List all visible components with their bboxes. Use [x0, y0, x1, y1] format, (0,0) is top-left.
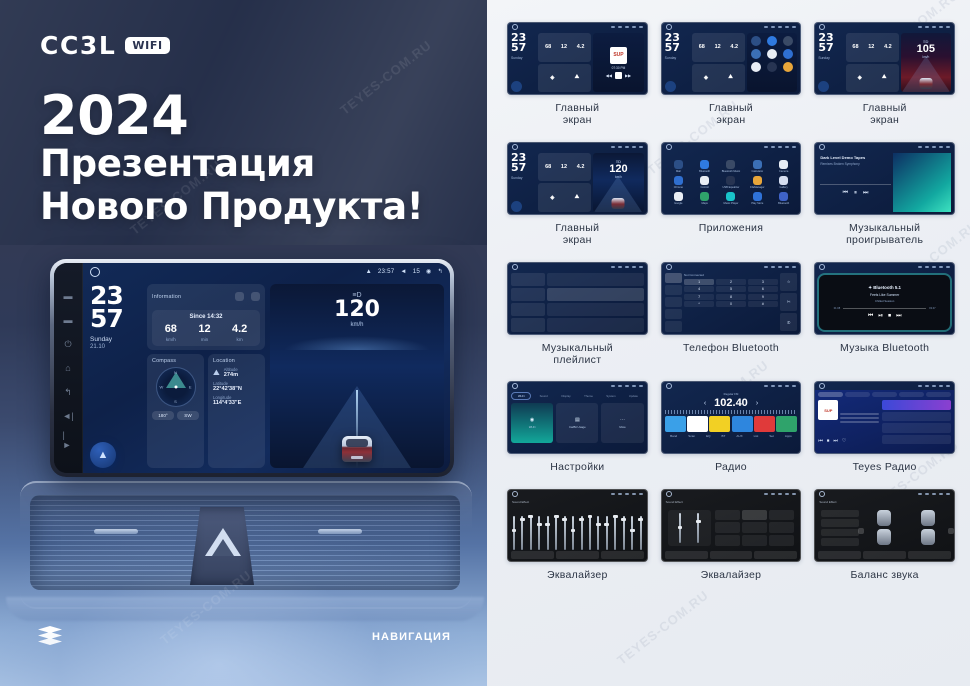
navigation-arrow-icon[interactable] [511, 201, 522, 212]
seat-map[interactable] [864, 510, 948, 546]
dialpad-key[interactable]: 4 [684, 286, 714, 292]
sidebar-icon[interactable] [665, 321, 682, 331]
dialpad-key[interactable]: 0 [716, 301, 746, 307]
footer-tab[interactable] [754, 551, 797, 559]
eq-knob[interactable] [537, 523, 542, 526]
track-row[interactable] [547, 273, 643, 286]
radio-frequency: 102.40 [714, 397, 748, 409]
eq-knob[interactable] [613, 515, 618, 518]
action-icon[interactable]: ☆ [780, 273, 797, 291]
toolbar-button[interactable]: Scan [688, 434, 695, 438]
preset-row[interactable] [821, 529, 859, 537]
genre-tab[interactable] [818, 392, 843, 397]
compass-location-card[interactable]: ◈ ⛰ [846, 64, 899, 93]
screen-thumbnail[interactable]: Mail Bluetooth Bluetooth Music Calculato… [661, 142, 802, 215]
balance-presets[interactable] [821, 510, 859, 546]
eq-band[interactable] [589, 516, 591, 550]
sidebar-icon[interactable] [665, 285, 682, 295]
settings-tab[interactable]: Sound [533, 392, 553, 400]
sidebar-icon[interactable] [665, 297, 682, 307]
settings-tile[interactable]: ▤ CarBit Usage [556, 403, 598, 443]
eq-knob[interactable] [545, 523, 550, 526]
app-icon[interactable] [783, 62, 793, 72]
status-bar [662, 263, 801, 271]
audio-footer-tabs[interactable] [818, 551, 951, 559]
station-preset[interactable] [687, 416, 708, 432]
home-icon[interactable] [666, 264, 672, 270]
settings-tab[interactable]: Wi-Fi [511, 392, 531, 400]
previous-icon[interactable]: ◀◀ [606, 73, 612, 78]
footer-tab[interactable] [511, 551, 554, 559]
grid-cell[interactable]: 23 57 Sunday 68124.2 ◈ ⛰ Главныйэкран [661, 22, 802, 136]
toolbar-button[interactable]: EQ [706, 434, 710, 438]
compass-location-card[interactable]: ◈ ⛰ [538, 183, 591, 212]
progress-bar[interactable] [843, 308, 926, 309]
eq-band[interactable] [530, 516, 532, 550]
toolbar-button[interactable]: Apps [785, 434, 792, 438]
next-icon[interactable]: ⏭ [896, 313, 901, 320]
clock-icon [771, 493, 775, 495]
seat-icon[interactable] [877, 529, 891, 545]
media-controls[interactable]: ⏮ ⏹ ⏭ ♡ [818, 438, 879, 444]
eq-knob[interactable] [588, 515, 593, 518]
app-icon[interactable] [751, 62, 761, 72]
footer-tab[interactable] [908, 551, 951, 559]
toolbar-button[interactable]: AUX [736, 434, 742, 438]
eq-band[interactable] [597, 516, 599, 550]
grid-cell[interactable]: Sound Effect [507, 489, 648, 590]
app-tile[interactable]: Camera [772, 160, 795, 173]
settings-tab[interactable]: System [601, 392, 621, 400]
eq-knob[interactable] [571, 529, 576, 532]
visualizer [893, 153, 951, 212]
eq-knob[interactable] [604, 523, 609, 526]
screen-thumbnail[interactable] [507, 262, 648, 335]
eq-band[interactable] [679, 513, 681, 543]
information-card[interactable]: 68124.2 [692, 33, 745, 62]
grid-cell[interactable]: 23 57 Sunday 68124.2 ◈ ⛰ ≡D 105 km/h Гла… [814, 22, 955, 136]
eq-knob[interactable] [638, 518, 643, 521]
clock-date: 21.10 [90, 344, 142, 350]
dialpad-key[interactable]: 1 [684, 279, 714, 285]
screen-thumbnail[interactable]: Wi-FiSoundDisplayThemeSystemUpdate ◉ Wi-… [507, 381, 648, 454]
screen-thumbnail[interactable]: 23 57 Sunday 68124.2 ◈ ⛰ ≡D 120 km/h [507, 142, 648, 215]
screen-thumbnail[interactable]: Dark Level Demo Tapes Remixes Broken Sym… [814, 142, 955, 215]
dialpad-key[interactable]: 6 [748, 286, 778, 292]
chevron-left-icon[interactable]: ‹ [704, 400, 706, 407]
footer-tab[interactable] [601, 551, 644, 559]
eq-band[interactable] [572, 516, 574, 550]
preset-button[interactable] [742, 535, 767, 546]
genre-tab[interactable] [845, 392, 870, 397]
station-preset[interactable] [754, 416, 775, 432]
balance-right-button[interactable] [948, 528, 954, 534]
preset-button[interactable] [715, 535, 740, 546]
action-icon[interactable]: ✆ [780, 313, 797, 331]
media-controls[interactable]: ⏮ ⏸ ⏭ [820, 190, 890, 197]
previous-icon[interactable]: ⏮ [818, 438, 823, 444]
volume-icon [778, 26, 782, 28]
preset-button[interactable] [715, 510, 740, 521]
app-tile[interactable]: Calculator [746, 160, 769, 173]
eq-band[interactable] [614, 516, 616, 550]
grid-cell[interactable]: ✦ Bluetooth 5.1 Feels Like Summer Chille… [814, 262, 955, 376]
eq-band[interactable] [555, 516, 557, 550]
drive-view-card[interactable]: ≡D 105 km/h [901, 33, 951, 92]
equalizer-simple[interactable] [662, 506, 801, 550]
stop-icon[interactable]: ⏹ [888, 313, 891, 320]
headline-line-1: Презентация [40, 143, 460, 186]
previous-icon[interactable]: ⏮ [868, 313, 873, 320]
home-icon[interactable]: ⌂ [63, 363, 74, 374]
navigation-arrow-icon[interactable] [665, 81, 676, 92]
refresh-icon[interactable] [251, 292, 260, 301]
app-shortcuts[interactable] [747, 33, 797, 92]
key-minus-icon[interactable]: ▬ [63, 291, 74, 302]
app-tile[interactable]: Bluetooth [772, 192, 795, 205]
app-tile[interactable]: Control [693, 176, 716, 189]
track-row[interactable] [547, 288, 643, 301]
frequency-row[interactable]: ‹ 102.40 › [665, 397, 798, 409]
dialpad-key[interactable]: 2 [716, 279, 746, 285]
information-card[interactable]: 68124.2 [538, 33, 591, 62]
app-icon [726, 176, 735, 185]
equalizer-bands[interactable] [508, 512, 647, 550]
home-icon[interactable] [666, 491, 672, 497]
volume-icon [625, 26, 629, 28]
next-icon[interactable]: ▶▶ [625, 73, 631, 78]
volume-down-icon[interactable]: ◄| [63, 411, 74, 422]
drive-view-card[interactable]: ≡D 120 km/h [593, 153, 643, 212]
eq-knob[interactable] [528, 515, 533, 518]
track-row[interactable] [547, 303, 643, 316]
preset-row[interactable] [821, 538, 859, 546]
genre-tab[interactable] [926, 392, 951, 397]
eq-knob[interactable] [554, 515, 559, 518]
grid-cell[interactable]: 23 57 Sunday 68124.2 ◈ ⛰ SUP 07:30 PM ◀◀… [507, 22, 648, 136]
eq-band[interactable] [538, 516, 540, 550]
compass-location-card[interactable]: ◈ ⛰ [692, 64, 745, 93]
toolbar-button[interactable]: BT [722, 434, 726, 438]
sidebar-item[interactable] [511, 288, 545, 301]
dialpad-key[interactable]: 8 [716, 294, 746, 300]
app-tile[interactable]: Music Player [719, 192, 742, 205]
grid-cell[interactable]: Музыкальныйплейлист [507, 262, 648, 376]
navigation-arrow-icon[interactable] [818, 81, 829, 92]
app-tile[interactable]: Play Store [746, 192, 769, 205]
drive-view-card[interactable]: ≡D 120 km/h [270, 284, 444, 468]
screen-thumbnail[interactable]: 23 57 Sunday 68124.2 ◈ ⛰ SUP 07:30 PM ◀◀… [507, 22, 648, 95]
location-card[interactable]: Location ⛰ Altitude 274m [208, 354, 265, 468]
preset-button[interactable] [715, 522, 740, 533]
head-unit-hard-keys[interactable]: ▬ ▬ ⏻ ⌂ ↰ ◄| |► [54, 263, 83, 473]
settings-tile[interactable]: ⋯ More [601, 403, 643, 443]
eq-knob[interactable] [678, 526, 683, 529]
genre-tab[interactable] [872, 392, 897, 397]
app-tile[interactable]: Mail [667, 160, 690, 173]
next-icon[interactable]: ⏭ [863, 190, 868, 197]
screen-thumbnail[interactable]: SUP ⏮ ⏹ ⏭ ♡ [814, 381, 955, 454]
app-icon[interactable] [767, 49, 777, 59]
grid-cell[interactable]: Dark Level Demo Tapes Remixes Broken Sym… [814, 142, 955, 256]
grid-cell[interactable]: Sound Effect Баланс звука [814, 489, 955, 590]
progress-bar[interactable] [820, 184, 890, 185]
app-tile[interactable]: Maps [693, 192, 716, 205]
sound-balance[interactable] [815, 506, 954, 550]
back-arrow-icon[interactable]: ↰ [438, 268, 443, 275]
settings-tile[interactable]: ◉ Wi-Fi [511, 403, 553, 443]
station-row[interactable] [882, 400, 951, 410]
pause-icon[interactable]: ⏸ [854, 190, 857, 197]
eq-band[interactable] [513, 516, 515, 550]
station-preset[interactable] [776, 416, 797, 432]
home-icon[interactable] [90, 267, 100, 277]
preset-row[interactable] [821, 510, 859, 518]
footer-tab[interactable] [710, 551, 753, 559]
settings-tab[interactable]: Display [556, 392, 576, 400]
home-screen-body: 23 57 Sunday 21.10 ▲ Information [83, 280, 450, 473]
play-pause-icon[interactable]: ⏯ [878, 313, 883, 320]
next-icon[interactable]: ⏭ [833, 438, 838, 444]
screen-thumbnail[interactable]: 23 57 Sunday 68124.2 ◈ ⛰ [661, 22, 802, 95]
media-widget[interactable]: SUP 07:30 PM ◀◀ ▶▶ [593, 33, 643, 92]
clock-day: Sunday [511, 56, 536, 60]
preset-row[interactable] [821, 519, 859, 527]
compass-location-card[interactable]: ◈ ⛰ [538, 64, 591, 93]
previous-icon[interactable]: ⏮ [843, 190, 848, 197]
app-tile[interactable]: USB Equalizer [719, 176, 742, 189]
favorite-icon[interactable]: ♡ [842, 438, 846, 444]
app-tile[interactable]: Bluetooth Music [719, 160, 742, 173]
app-tile[interactable]: Bluetooth [693, 160, 716, 173]
audio-footer-tabs[interactable] [665, 551, 798, 559]
preset-grid[interactable] [715, 510, 795, 546]
genre-tab[interactable] [899, 392, 924, 397]
app-tile[interactable]: FileManager [746, 176, 769, 189]
settings-tabs[interactable]: Wi-FiSoundDisplayThemeSystemUpdate [511, 392, 644, 400]
home-icon[interactable] [512, 24, 518, 30]
radio-toolbar[interactable]: BandScanEQBTAUXListSetApps [665, 434, 798, 438]
seat-icon[interactable] [921, 510, 935, 526]
track-row[interactable] [547, 318, 643, 331]
dialpad[interactable]: 123456789*0# [684, 279, 778, 308]
app-icon [726, 192, 735, 201]
stat-value: 4.2 [884, 44, 892, 50]
balance-left-button[interactable] [858, 528, 864, 534]
sidebar-item[interactable] [511, 318, 545, 331]
app-icon[interactable] [751, 49, 761, 59]
eq-band[interactable] [631, 516, 633, 550]
volume-up-icon[interactable]: |► [63, 435, 74, 446]
action-icon[interactable]: ✄ [780, 293, 797, 311]
screen-thumbnail[interactable]: 23 57 Sunday 68124.2 ◈ ⛰ ≡D 105 km/h [814, 22, 955, 95]
stat-value: 12 [198, 324, 210, 335]
toolbar-button[interactable]: Band [670, 434, 677, 438]
information-card[interactable]: Information Since 14:32 [147, 284, 265, 350]
phone-sidebar[interactable] [665, 273, 682, 332]
dialpad-key[interactable]: 5 [716, 286, 746, 292]
media-controls[interactable]: ◀◀ ▶▶ [606, 72, 631, 79]
home-icon[interactable] [512, 144, 518, 150]
app-tile[interactable]: Gallery [772, 176, 795, 189]
dialpad-key[interactable]: 7 [684, 294, 714, 300]
back-arrow-icon [792, 146, 796, 148]
album-art: SUP [610, 47, 627, 64]
power-icon[interactable]: ⏻ [63, 339, 74, 350]
home-icon[interactable] [666, 144, 672, 150]
sidebar-item[interactable] [511, 273, 545, 286]
navigation-arrow-icon[interactable] [511, 81, 522, 92]
thumbnail-caption: Музыка Bluetooth [840, 342, 929, 354]
eq-knob[interactable] [596, 523, 601, 526]
stop-icon[interactable]: ⏹ [827, 438, 830, 444]
grid-cell[interactable]: 23 57 Sunday 68124.2 ◈ ⛰ ≡D 120 km/h Гла… [507, 142, 648, 256]
home-icon[interactable] [819, 24, 825, 30]
home-icon[interactable] [512, 264, 518, 270]
media-controls[interactable]: ⏮ ⏯ ⏹ ⏭ [868, 313, 902, 320]
dialpad-key[interactable]: 9 [748, 294, 778, 300]
station-preset[interactable] [709, 416, 730, 432]
eq-knob[interactable] [621, 518, 626, 521]
screen-thumbnail[interactable]: Sound Effect [814, 489, 955, 562]
audio-footer-tabs[interactable] [511, 551, 644, 559]
eq-knob[interactable] [562, 518, 567, 521]
screen-thumbnail[interactable]: ✦ Bluetooth 5.1 Feels Like Summer Chille… [814, 262, 955, 335]
screen-thumbnail[interactable]: Not Connected 123456789*0# ☆✄✆ [661, 262, 802, 335]
home-icon[interactable] [819, 383, 825, 389]
footer-tab[interactable] [863, 551, 906, 559]
screen-thumbnail[interactable]: Sound Effect [661, 489, 802, 562]
settings-tab[interactable]: Update [623, 392, 643, 400]
back-arrow-icon [639, 146, 643, 148]
grid-cell[interactable]: Sound Effect Эквалайзер [661, 489, 802, 590]
eq-band[interactable] [623, 516, 625, 550]
dialpad-key[interactable]: # [748, 301, 778, 307]
information-card[interactable]: 68124.2 [538, 153, 591, 182]
footer-tab[interactable] [665, 551, 708, 559]
eq-knob[interactable] [512, 529, 517, 532]
back-arrow-icon[interactable]: ↰ [63, 387, 74, 398]
footer-tab[interactable] [556, 551, 599, 559]
stop-icon[interactable] [615, 72, 622, 79]
eq-band[interactable] [606, 516, 608, 550]
settings-gear-icon[interactable] [235, 292, 244, 301]
eq-knob[interactable] [696, 520, 701, 523]
screen-thumbnail[interactable]: Sound Effect [507, 489, 648, 562]
station-list[interactable] [882, 400, 951, 444]
app-tile[interactable]: Chrome [667, 176, 690, 189]
settings-tab[interactable]: Theme [578, 392, 598, 400]
preset-row[interactable] [665, 416, 798, 432]
screen-thumbnail[interactable]: Regular FM ‹ 102.40 › BandScanEQBTAUXLis… [661, 381, 802, 454]
grid-cell[interactable]: Wi-FiSoundDisplayThemeSystemUpdate ◉ Wi-… [507, 381, 648, 482]
station-preset[interactable] [665, 416, 686, 432]
playlist-sidebar[interactable] [511, 273, 545, 332]
toolbar-button[interactable]: Set [769, 434, 774, 438]
eq-knob[interactable] [579, 518, 584, 521]
station-preset[interactable] [732, 416, 753, 432]
preset-button[interactable] [769, 510, 794, 521]
preset-button[interactable] [742, 522, 767, 533]
preset-button[interactable] [769, 522, 794, 533]
audio-screen: Sound Effect [815, 498, 954, 561]
navigation-arrow-icon[interactable]: ▲ [90, 442, 116, 468]
phone-actions[interactable]: ☆✄✆ [780, 273, 797, 332]
clock-column: 23 57 Sunday [665, 33, 690, 92]
genre-tabs[interactable] [818, 392, 951, 397]
sidebar-icon[interactable] [665, 309, 682, 319]
seat-icon[interactable] [877, 510, 891, 526]
eq-band[interactable] [640, 516, 642, 550]
grid-cell[interactable]: Mail Bluetooth Bluetooth Music Calculato… [661, 142, 802, 256]
chevron-right-icon[interactable]: › [756, 400, 758, 407]
app-icon[interactable] [751, 36, 761, 46]
clock-day: Sunday [665, 56, 690, 60]
sidebar-icon[interactable] [665, 273, 682, 283]
eq-band[interactable] [521, 516, 523, 550]
app-icon[interactable] [767, 36, 777, 46]
widgets-column: 68124.2 ◈ ⛰ [846, 33, 899, 92]
app-tile[interactable]: Google [667, 192, 690, 205]
eq-knob[interactable] [630, 529, 635, 532]
app-icon[interactable] [767, 62, 777, 72]
seat-icon[interactable] [921, 529, 935, 545]
preset-button[interactable] [742, 510, 767, 521]
station-row[interactable] [882, 423, 951, 433]
grid-cell[interactable]: Not Connected 123456789*0# ☆✄✆ Телефон B… [661, 262, 802, 376]
clock-minutes: 57 [90, 307, 142, 330]
home-icon[interactable] [819, 264, 825, 270]
eq-knob[interactable] [520, 518, 525, 521]
compass-card[interactable]: Compass N S E W [147, 354, 204, 468]
footer-tab[interactable] [818, 551, 861, 559]
clock-day: Sunday [818, 56, 843, 60]
key-plus-icon[interactable]: ▬ [63, 315, 74, 326]
home-icon[interactable] [666, 24, 672, 30]
dialpad-key[interactable]: * [684, 301, 714, 307]
grid-cell[interactable]: Regular FM ‹ 102.40 › BandScanEQBTAUXLis… [661, 381, 802, 482]
app-icon[interactable] [783, 49, 793, 59]
track-list[interactable] [547, 273, 643, 332]
home-icon[interactable] [819, 491, 825, 497]
preset-button[interactable] [769, 535, 794, 546]
gps-icon [632, 26, 636, 28]
station-row[interactable] [882, 435, 951, 445]
sidebar-item[interactable] [511, 303, 545, 316]
tile-label: Wi-Fi [529, 425, 536, 429]
dialpad-key[interactable]: 3 [748, 279, 778, 285]
home-icon[interactable] [666, 383, 672, 389]
eq-band[interactable] [547, 516, 549, 550]
home-icon[interactable] [512, 491, 518, 497]
grid-cell[interactable]: SUP ⏮ ⏹ ⏭ ♡ Teyes Радио [814, 381, 955, 482]
settings-tiles[interactable]: ◉ Wi-Fi ▤ CarBit Usage ⋯ More [511, 403, 644, 443]
toolbar-button[interactable]: List [754, 434, 759, 438]
eq-band[interactable] [697, 513, 699, 543]
home-icon[interactable] [512, 383, 518, 389]
clock-icon [925, 26, 929, 28]
eq-band[interactable] [581, 516, 583, 550]
hazard-triangle-inner-icon [212, 539, 234, 556]
app-icon[interactable] [783, 36, 793, 46]
information-card[interactable]: 68124.2 [846, 33, 899, 62]
home-icon[interactable] [819, 144, 825, 150]
eq-band[interactable] [564, 516, 566, 550]
volume-icon [778, 146, 782, 148]
wifi-icon [611, 493, 615, 495]
tuning-scale[interactable] [665, 410, 798, 414]
station-row[interactable] [882, 412, 951, 422]
